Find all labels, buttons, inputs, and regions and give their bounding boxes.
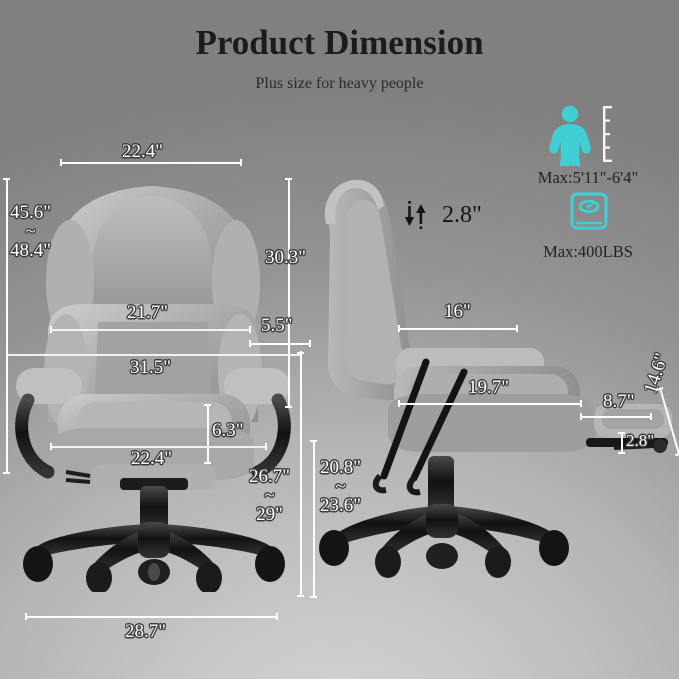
dim-label-seat-height-range-front: 26.7"~29" <box>249 467 290 524</box>
front-view-chair <box>14 172 294 592</box>
dim-line-backrest-to-seat-front <box>398 325 518 332</box>
dim-label-seat-cushion-height: 6.3" <box>212 421 244 441</box>
dim-label-base-width: 28.7" <box>125 622 166 642</box>
dim-label-inner-back-width: 21.7" <box>127 303 168 323</box>
dim-line-seat-height-range-side <box>310 440 317 598</box>
dim-line-seat-cushion-height <box>204 404 211 464</box>
dim-label-footrest-thickness: 2.8" <box>626 432 654 450</box>
dim-line-footrest-length <box>580 413 652 420</box>
dim-line-seat-height-range-front <box>297 352 304 597</box>
dim-line-overall-width-arms <box>6 351 302 358</box>
dim-line-seat-depth <box>398 400 582 407</box>
dim-label-seat-width: 22.4" <box>131 449 172 469</box>
dim-label-seat-depth: 19.7" <box>468 378 509 398</box>
dim-label-overall-height: 45.6"~48.4" <box>10 203 51 260</box>
dim-label-seat-height-range-side: 20.8"~23.6" <box>320 458 361 515</box>
page-title: Product Dimension <box>0 23 679 63</box>
dim-line-inner-back-width <box>50 326 251 333</box>
dim-line-overall-height <box>3 178 10 474</box>
dim-label-footrest-length: 8.7" <box>603 392 635 412</box>
page-subtitle: Plus size for heavy people <box>0 75 679 93</box>
dim-label-armrest-thickness: 5.5" <box>261 316 293 336</box>
dim-line-base-width <box>25 613 278 620</box>
heavy-person-icon <box>508 104 668 166</box>
dim-line-armrest-thickness <box>249 340 311 347</box>
dim-line-footrest-thickness <box>618 432 625 454</box>
product-dimension-infographic: Product Dimension Plus size for heavy pe… <box>0 0 679 679</box>
dim-label-backrest-height: 30.3" <box>265 248 306 268</box>
dim-label-backrest-to-seat-front: 16" <box>444 302 471 322</box>
dim-label-overall-width-arms: 31.5" <box>130 358 171 378</box>
dim-line-backrest-width <box>60 159 242 166</box>
dim-line-backrest-height <box>285 178 292 408</box>
